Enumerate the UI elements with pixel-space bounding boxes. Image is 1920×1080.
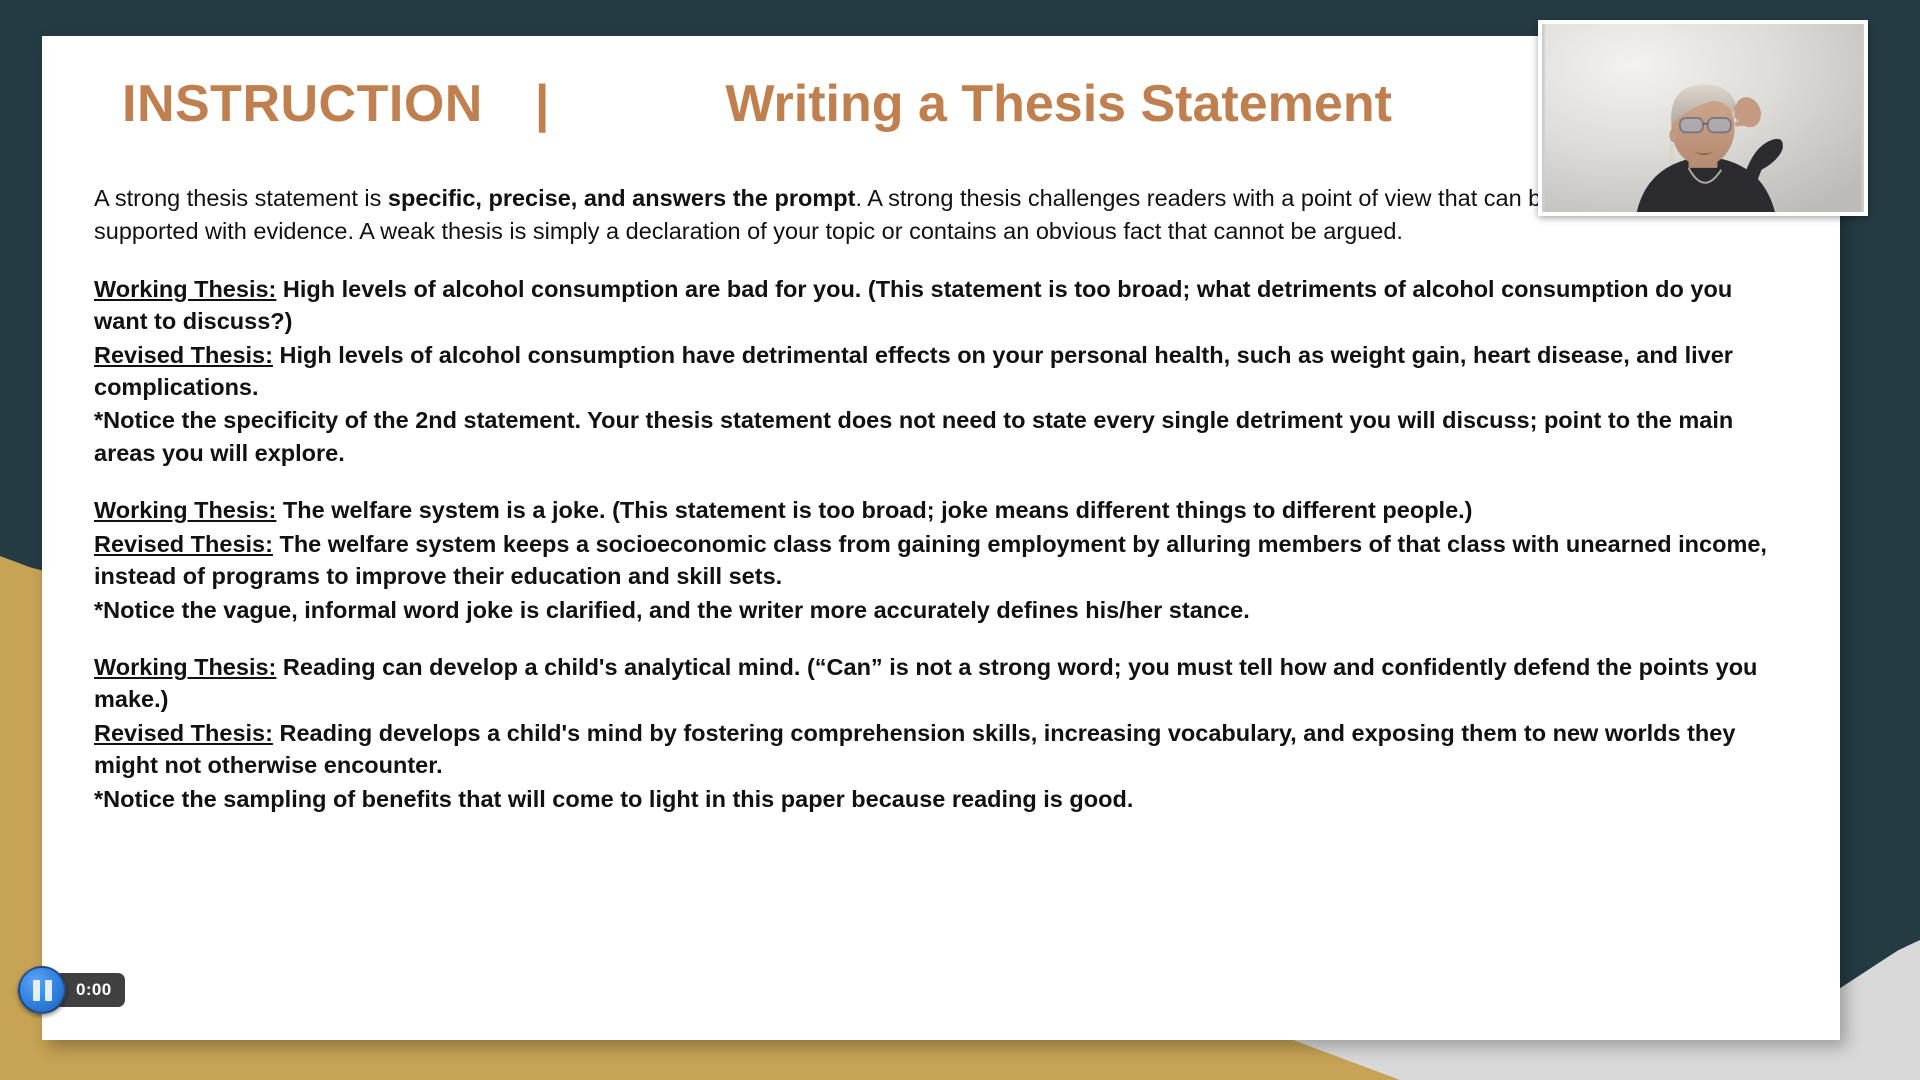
- pause-bar-right: [45, 980, 52, 1001]
- page-subtitle: Writing a Thesis Statement: [725, 78, 1392, 130]
- intro-bold: specific, precise, and answers the promp…: [388, 185, 856, 211]
- thesis-note: *Notice the sampling of benefits that wi…: [94, 783, 1788, 815]
- thesis-note: *Notice the vague, informal word joke is…: [94, 594, 1788, 626]
- thesis-block: Working Thesis: High levels of alcohol c…: [94, 273, 1788, 470]
- revised-thesis-label: Revised Thesis:: [94, 531, 273, 557]
- slide-title: INSTRUCTION | Writing a Thesis Statement: [94, 78, 1788, 170]
- pause-icon[interactable]: [18, 966, 66, 1014]
- working-thesis-text: High levels of alcohol consumption are b…: [94, 276, 1732, 334]
- revised-thesis-text: High levels of alcohol consumption have …: [94, 342, 1733, 400]
- working-thesis-label: Working Thesis:: [94, 276, 276, 302]
- working-thesis-label: Working Thesis:: [94, 654, 276, 680]
- working-thesis-line: Working Thesis: Reading can develop a ch…: [94, 651, 1788, 716]
- intro-part1: A strong thesis statement is: [94, 185, 388, 211]
- revised-thesis-line: Revised Thesis: Reading develops a child…: [94, 717, 1788, 782]
- revised-thesis-label: Revised Thesis:: [94, 720, 273, 746]
- thesis-block: Working Thesis: Reading can develop a ch…: [94, 651, 1788, 815]
- working-thesis-text: Reading can develop a child's analytical…: [94, 654, 1757, 712]
- revised-thesis-line: Revised Thesis: High levels of alcohol c…: [94, 339, 1788, 404]
- thesis-note: *Notice the specificity of the 2nd state…: [94, 404, 1788, 469]
- working-thesis-line: Working Thesis: High levels of alcohol c…: [94, 273, 1788, 338]
- revised-thesis-text: The welfare system keeps a socioeconomic…: [94, 531, 1767, 589]
- working-thesis-text: The welfare system is a joke. (This stat…: [276, 497, 1472, 523]
- page-title: INSTRUCTION: [122, 78, 483, 130]
- revised-thesis-line: Revised Thesis: The welfare system keeps…: [94, 528, 1788, 593]
- working-thesis-line: Working Thesis: The welfare system is a …: [94, 494, 1788, 526]
- playback-controls[interactable]: 0:00: [18, 966, 125, 1014]
- webcam-video-frame: [1542, 24, 1864, 212]
- thesis-block: Working Thesis: The welfare system is a …: [94, 494, 1788, 626]
- pause-bar-left: [33, 980, 40, 1001]
- presenter-webcam-overlay[interactable]: [1538, 20, 1868, 216]
- title-separator: |: [535, 78, 550, 130]
- slide-body: A strong thesis statement is specific, p…: [94, 182, 1788, 815]
- revised-thesis-label: Revised Thesis:: [94, 342, 273, 368]
- working-thesis-label: Working Thesis:: [94, 497, 276, 523]
- intro-paragraph: A strong thesis statement is specific, p…: [94, 182, 1788, 248]
- revised-thesis-text: Reading develops a child's mind by foste…: [94, 720, 1735, 778]
